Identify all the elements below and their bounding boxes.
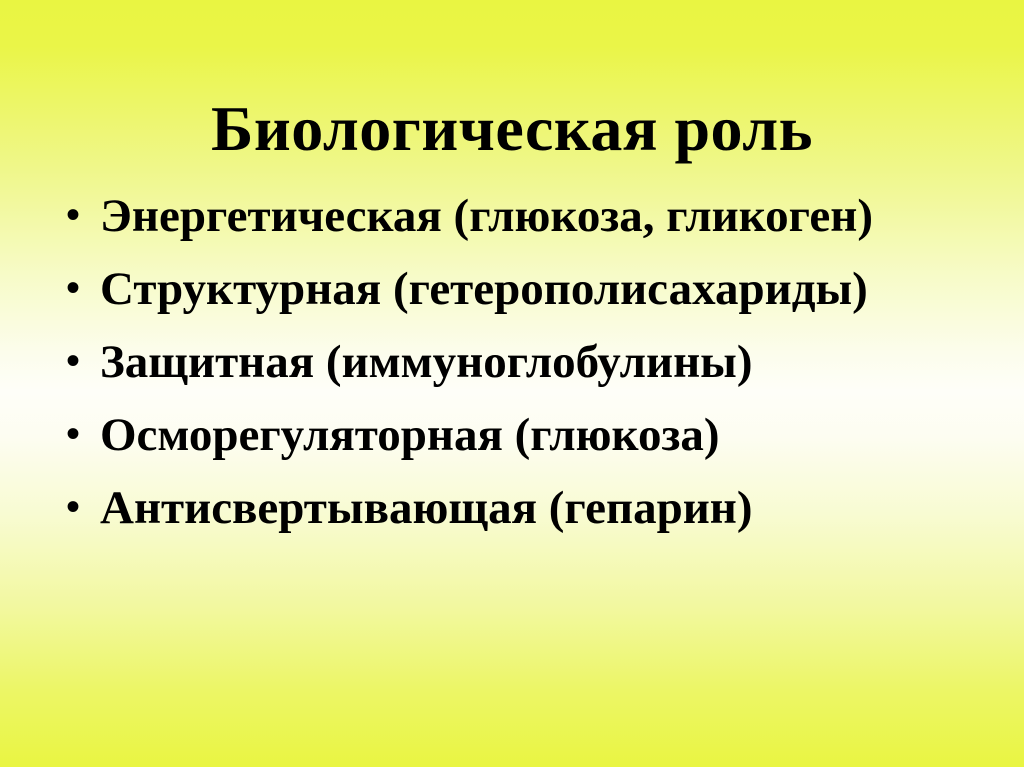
bullet-dot-icon: • [62,259,84,319]
list-item: • Антисвертывающая (гепарин) [56,478,986,551]
list-item: • Энергетическая (глюкоза, гликоген) [56,186,986,259]
bullet-dot-icon: • [62,478,84,538]
list-item: • Структурная (гетерополисахариды) [56,259,986,332]
list-item: • Защитная (иммуноглобулины) [56,332,986,405]
bullet-list: • Энергетическая (глюкоза, гликоген) • С… [56,186,986,551]
list-item-label: Защитная (иммуноглобулины) [100,332,753,392]
list-item: • Осморегуляторная (глюкоза) [56,405,986,478]
page-title: Биологическая роль [211,95,813,163]
bullet-dot-icon: • [62,405,84,465]
list-item-label: Энергетическая (глюкоза, гликоген) [100,186,873,246]
slide-title-block: Биологическая роль [0,52,1024,206]
presentation-slide: Биологическая роль • Энергетическая (глю… [0,0,1024,767]
bullet-dot-icon: • [62,186,84,246]
list-item-label: Структурная (гетерополисахариды) [100,259,868,319]
list-item-label: Антисвертывающая (гепарин) [100,478,753,538]
bullet-dot-icon: • [62,332,84,392]
list-item-label: Осморегуляторная (глюкоза) [100,405,720,465]
